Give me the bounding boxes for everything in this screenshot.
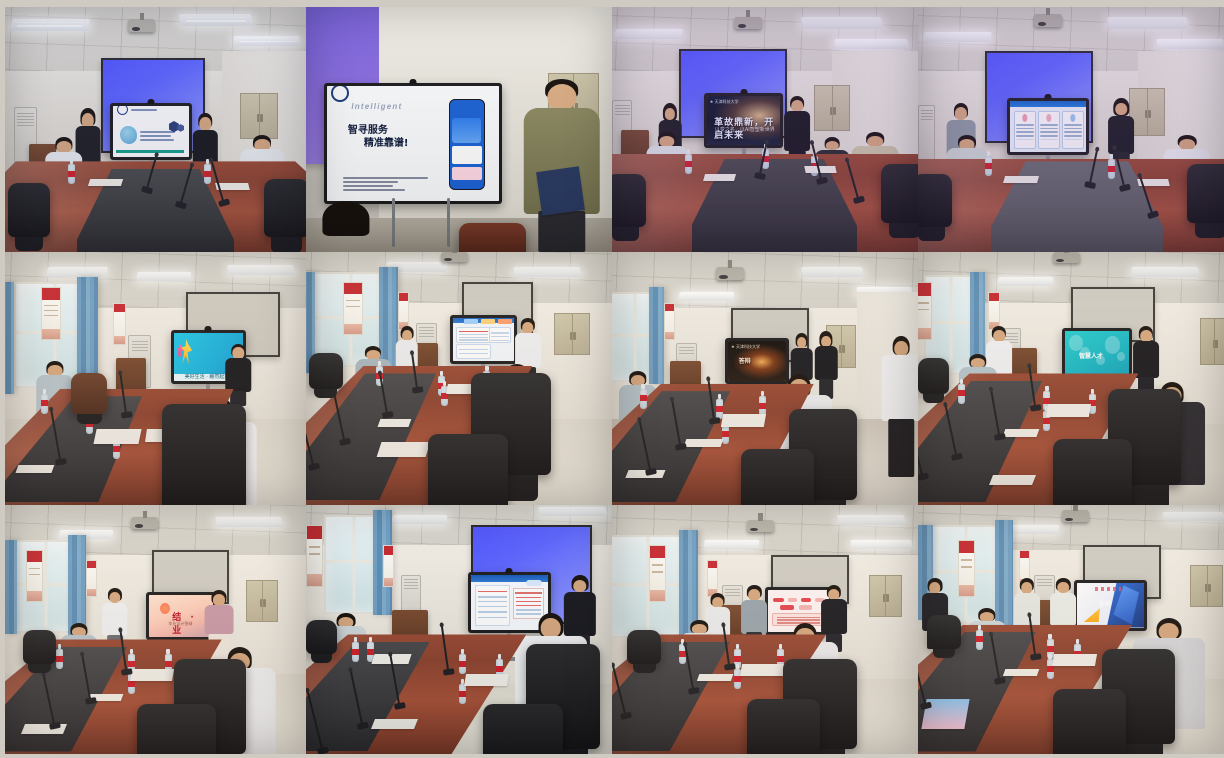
chair — [264, 179, 306, 238]
air-conditioner — [918, 105, 935, 161]
wall-poster — [707, 560, 718, 597]
photo-cell[interactable]: 美好生活 · 翩然起舞 — [0, 252, 306, 505]
slide-content: ★ 天津科技大学 革故鼎新，开启未来 以变之名，以AI智塑新世界 — [707, 96, 780, 145]
interactive-display: Intelligent 智寻服务 精准靠谱! — [324, 83, 501, 204]
slide-content — [113, 106, 188, 157]
curtain — [5, 282, 14, 393]
photo-grid: Intelligent 智寻服务 精准靠谱! — [0, 0, 1224, 758]
projector-icon — [734, 17, 762, 29]
water-bottle — [958, 384, 965, 404]
ceiling-lamp-icon — [59, 530, 114, 539]
chair — [1053, 689, 1126, 754]
foreground-attendee — [312, 203, 379, 252]
water-bottle — [68, 164, 75, 184]
slide-subtitle: 以变之名，以AI智塑新世界 — [715, 126, 775, 133]
projector-icon — [716, 267, 744, 280]
slide-headline-line2: 精准靠谱! — [364, 138, 409, 151]
interactive-display: ★ 天津科技大学 革故鼎新，开启未来 以变之名，以AI智塑新世界 — [704, 93, 783, 148]
ceiling-lamp-icon — [923, 32, 992, 42]
photo-6 — [306, 252, 612, 505]
slide-headline: 智寻服务 精准靠谱! — [348, 125, 409, 150]
document — [1045, 404, 1090, 417]
slide-content — [453, 318, 514, 361]
photo-11 — [612, 505, 918, 754]
ceiling-lamp-icon — [215, 517, 283, 527]
display-camera-icon — [506, 568, 513, 573]
chair — [918, 358, 949, 393]
projector-icon — [131, 517, 158, 528]
document — [1003, 176, 1039, 183]
water-bottle — [976, 630, 983, 650]
wall-cabinet — [869, 575, 902, 617]
wall-cabinet — [554, 313, 590, 355]
chair — [927, 615, 961, 650]
presenter — [523, 81, 600, 253]
wall-poster — [26, 550, 43, 602]
document — [88, 179, 123, 186]
water-bottle — [352, 642, 359, 662]
wall-poster — [958, 540, 975, 597]
ceiling-lamp-icon — [178, 14, 252, 26]
slide-wordmark: Intelligent — [351, 102, 402, 111]
ceiling-lamp-icon — [391, 515, 447, 524]
slide-content: 智慧人才 — [1065, 331, 1129, 377]
wall-cabinet — [246, 580, 278, 622]
document — [703, 174, 736, 181]
document — [378, 419, 411, 427]
wall-poster — [306, 525, 323, 587]
slide-subtitle: 毕业设计答辩 — [168, 621, 192, 627]
chair — [747, 699, 820, 754]
ceiling-lamp-icon — [679, 292, 735, 301]
photo-cell[interactable] — [918, 0, 1224, 252]
slide-content: Intelligent 智寻服务 精准靠谱! — [327, 86, 498, 201]
ceiling-lamp-icon — [614, 29, 683, 39]
curtain — [5, 540, 17, 635]
ceiling-lamp-icon — [233, 36, 301, 46]
ceiling-lamp-icon — [801, 267, 864, 277]
document — [16, 465, 55, 473]
photo-cell[interactable]: 智慧人才 — [918, 252, 1224, 505]
water-bottle — [985, 156, 992, 176]
water-bottle — [1108, 159, 1115, 179]
photo-cell[interactable] — [306, 505, 612, 758]
document — [377, 442, 431, 457]
photo-cell[interactable] — [0, 0, 306, 252]
water-bottle — [204, 164, 211, 184]
water-bottle — [722, 424, 729, 444]
ceiling-lamp-icon — [10, 19, 91, 31]
ceiling-lamp-icon — [1156, 39, 1224, 49]
document — [1052, 654, 1097, 666]
document — [94, 429, 142, 444]
chair — [162, 404, 246, 505]
chair — [1187, 164, 1224, 223]
wall-poster — [113, 303, 126, 345]
water-bottle — [41, 394, 48, 414]
wall-cabinet — [1200, 318, 1224, 366]
wall-poster — [343, 282, 363, 335]
projector-icon — [1053, 252, 1081, 263]
ceiling-lamp-icon — [997, 277, 1053, 286]
interactive-display — [1007, 98, 1090, 155]
slide-headline-line1: 智寻服务 — [348, 125, 409, 138]
display-camera-icon — [1044, 94, 1051, 99]
photo-cell[interactable]: Intelligent 智寻服务 精准靠谱! — [306, 0, 612, 252]
ceiling-lamp-icon — [1131, 267, 1200, 277]
document — [464, 674, 509, 686]
ceiling-lamp-icon — [835, 39, 910, 49]
wall-poster — [664, 303, 675, 340]
chair — [309, 353, 343, 388]
chair — [881, 164, 918, 223]
chair — [612, 174, 646, 228]
chair — [306, 620, 337, 655]
chair — [918, 174, 952, 228]
document — [739, 664, 784, 676]
ceiling-lamp-icon — [838, 515, 907, 525]
water-bottle — [459, 684, 466, 704]
wall-poster — [918, 282, 932, 340]
photo-4 — [918, 7, 1224, 252]
photo-9: 结 · 业 毕业设计答辩 — [5, 505, 306, 754]
display-camera-icon — [740, 89, 747, 94]
photo-1 — [5, 7, 306, 252]
slide-title: 智慧人才 — [1079, 351, 1103, 360]
photo-5: 美好生活 · 翩然起舞 — [5, 252, 306, 505]
ceiling-lamp-icon — [513, 267, 582, 277]
chair — [137, 704, 215, 754]
wall-poster — [41, 287, 61, 340]
water-bottle — [640, 389, 647, 409]
photo-2: Intelligent 智寻服务 精准靠谱! — [306, 7, 612, 252]
projector-icon — [441, 252, 469, 262]
chair — [23, 630, 56, 665]
document — [130, 669, 174, 681]
photo-cell[interactable]: ★ 天津科技大学 答辩 — [612, 252, 918, 505]
photo-cell[interactable] — [306, 252, 612, 505]
document — [684, 439, 723, 447]
interactive-display — [450, 315, 517, 364]
display-easel-leg — [392, 198, 395, 247]
document — [1002, 429, 1038, 437]
wall-poster — [398, 292, 409, 329]
photo-collage: Intelligent 智寻服务 精准靠谱! — [0, 0, 1224, 758]
interactive-display: 智慧人才 — [1062, 328, 1132, 380]
slide-content — [1010, 101, 1087, 152]
photo-8: 智慧人才 — [918, 252, 1224, 505]
ceiling-lamp-icon — [801, 17, 883, 29]
document — [989, 475, 1036, 485]
projector-icon — [1034, 14, 1062, 26]
ceiling-lamp-icon — [227, 265, 295, 275]
standing-attendee — [881, 338, 918, 477]
phone-mockup — [449, 99, 485, 191]
wall-poster — [383, 545, 394, 587]
slide-caption: 美好生活 · 翩然起舞 — [185, 373, 230, 380]
slide-footnotes — [343, 177, 432, 193]
document — [696, 674, 732, 681]
photo-cell[interactable]: 答辩 — [918, 505, 1224, 758]
projector-icon — [1062, 510, 1090, 522]
document — [1002, 669, 1038, 676]
water-bottle — [685, 154, 692, 174]
chair — [459, 223, 526, 252]
ceiling-lamp-icon — [1107, 17, 1189, 29]
chair — [741, 449, 814, 505]
ceiling-lamp-icon — [137, 272, 192, 281]
document — [371, 719, 418, 729]
water-bottle — [56, 649, 63, 669]
photo-cell[interactable]: 结 · 业 毕业设计答辩 — [0, 505, 306, 758]
document — [721, 414, 766, 427]
slide-title: 答辩 — [1099, 599, 1111, 608]
photo-cell[interactable]: ★ 天津科技大学 革故鼎新，开启未来 以变之名，以AI智塑新世界 — [612, 0, 918, 252]
water-bottle — [459, 654, 466, 674]
ceiling-lamp-icon — [703, 540, 759, 549]
ceiling-lamp-icon — [46, 267, 109, 277]
photo-3: ★ 天津科技大学 革故鼎新，开启未来 以变之名，以AI智塑新世界 — [612, 7, 918, 252]
slide-title: 答辩 — [739, 356, 751, 365]
photo-cell[interactable] — [612, 505, 918, 758]
curtain — [649, 287, 664, 383]
ceiling-lamp-icon — [850, 540, 913, 549]
ceiling-lamp-icon — [538, 507, 607, 516]
wall-cabinet — [240, 93, 278, 139]
chair — [8, 183, 50, 237]
photo-7: ★ 天津科技大学 答辩 — [612, 252, 918, 505]
wall-poster — [988, 292, 999, 329]
wall-poster — [86, 560, 97, 597]
chair — [627, 630, 661, 665]
slide-brand: ★ 天津科技大学 — [710, 99, 739, 105]
display-easel-leg — [447, 198, 450, 247]
display-camera-icon — [147, 99, 154, 104]
wall-cabinet — [814, 85, 850, 131]
interactive-display — [110, 103, 191, 160]
chair — [483, 704, 563, 754]
photo-10 — [306, 505, 612, 754]
display-camera-icon — [205, 326, 212, 331]
display-camera-icon — [410, 79, 417, 84]
wall-poster — [649, 545, 666, 602]
photo-12: 答辩 — [918, 505, 1224, 754]
chair — [71, 373, 107, 413]
ceiling-lamp-icon — [1162, 512, 1224, 521]
projector-icon — [747, 520, 775, 532]
folder — [536, 166, 585, 216]
projector-icon — [128, 19, 155, 31]
chair — [1053, 439, 1133, 505]
slide-brand: ★ 天津科技大学 — [731, 344, 760, 350]
chair — [428, 434, 508, 505]
wall-cabinet — [1190, 565, 1223, 607]
